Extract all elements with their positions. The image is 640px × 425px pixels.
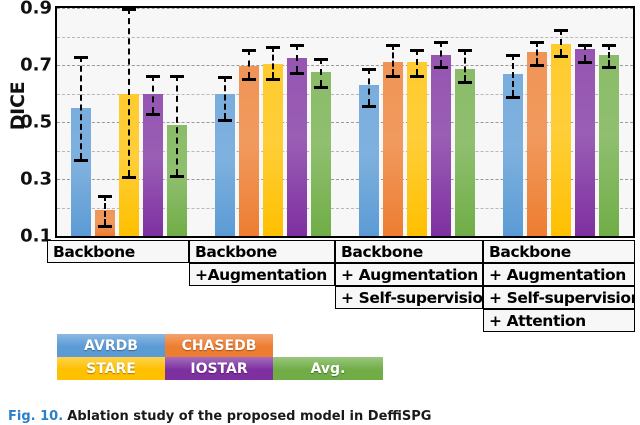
table-cell: + Self-supervision: [335, 286, 483, 309]
error-bar-line: [368, 68, 370, 105]
error-bar-line: [560, 29, 562, 55]
error-bar-cap-upper: [314, 58, 328, 61]
table-cell: Backbone: [189, 240, 335, 263]
bar-slot: [95, 8, 115, 236]
error-bar-cap-lower: [458, 81, 472, 84]
table-cell: Backbone: [47, 240, 189, 263]
error-bar-cap-upper: [98, 195, 112, 198]
table-cell: + Augmentation: [483, 263, 635, 286]
y-axis-tick-label: 0.5: [6, 112, 52, 133]
bar-slot: [119, 8, 139, 236]
error-bar-cap-upper: [122, 8, 136, 11]
table-cell: + Attention: [483, 309, 635, 332]
legend-row-1: AVRDBCHASEDB: [57, 334, 383, 357]
error-bar-line: [512, 54, 514, 97]
error-bar-line: [248, 49, 250, 78]
error-bar-line: [296, 44, 298, 73]
error-bar-line: [536, 41, 538, 64]
legend-item-chasedb: CHASEDB: [165, 334, 273, 357]
table-cell: Backbone: [335, 240, 483, 263]
error-bar-cap-lower: [122, 176, 136, 179]
error-bar-cap-upper: [218, 76, 232, 79]
error-bar-line: [176, 75, 178, 175]
bar-slot: [71, 8, 91, 236]
table-column: Backbone+ Augmentation+ Self-supervision…: [483, 240, 635, 332]
error-bar-cap-lower: [314, 86, 328, 89]
error-bar-cap-lower: [362, 105, 376, 108]
error-bar-line: [104, 195, 106, 225]
y-axis-tick-label: 0.7: [6, 55, 52, 76]
error-bar-cap-upper: [386, 44, 400, 47]
y-axis-tick-label: 0.9: [6, 0, 52, 19]
error-bar-cap-upper: [602, 44, 616, 47]
bar-avg-: [455, 69, 475, 236]
error-bar-cap-lower: [434, 66, 448, 69]
error-bar-line: [152, 75, 154, 113]
error-bar-line: [272, 46, 274, 77]
bar-slot: [551, 8, 571, 236]
bar-slot: [431, 8, 451, 236]
error-bar-cap-lower: [242, 78, 256, 81]
chart-legend: AVRDBCHASEDB STAREIOSTARAvg.: [57, 334, 383, 380]
bar-chasedb: [239, 66, 259, 236]
table-cell: + Self-supervision: [483, 286, 635, 309]
bar-slot: [527, 8, 547, 236]
legend-item-avg-: Avg.: [273, 357, 383, 380]
figure-root: DICE 0.90.70.50.30.1 BackboneBackbone+Au…: [0, 0, 640, 425]
table-cell: Backbone: [483, 240, 635, 263]
error-bar-cap-upper: [74, 56, 88, 59]
bar-slot: [407, 8, 427, 236]
error-bar-cap-upper: [362, 68, 376, 71]
error-bar-cap-upper: [434, 41, 448, 44]
error-bar-cap-upper: [146, 75, 160, 78]
bar-stare: [263, 64, 283, 236]
bar-slot: [215, 8, 235, 236]
error-bar-cap-upper: [170, 75, 184, 78]
bar-stare: [407, 62, 427, 236]
bar-iostar: [575, 49, 595, 236]
error-bar-cap-lower: [218, 119, 232, 122]
legend-item-stare: STARE: [57, 357, 165, 380]
bar-slot: [263, 8, 283, 236]
error-bar-cap-upper: [458, 49, 472, 52]
error-bar-cap-upper: [506, 54, 520, 57]
error-bar-line: [320, 58, 322, 87]
error-bar-cap-upper: [530, 41, 544, 44]
legend-item-iostar: IOSTAR: [165, 357, 273, 380]
bar-slot: [383, 8, 403, 236]
error-bar-line: [224, 76, 226, 119]
y-axis-tick-label: 0.1: [6, 226, 52, 247]
error-bar-line: [80, 56, 82, 159]
error-bar-cap-lower: [170, 175, 184, 178]
y-axis-ticks: 0.90.70.50.30.1: [0, 0, 52, 238]
bar-slot: [311, 8, 331, 236]
error-bar-line: [440, 41, 442, 67]
chart-plot-area: [55, 6, 635, 238]
legend-item-avrdb: AVRDB: [57, 334, 165, 357]
error-bar-cap-lower: [386, 75, 400, 78]
error-bar-cap-lower: [554, 55, 568, 58]
table-column: Backbone: [47, 240, 189, 263]
error-bar-cap-lower: [74, 159, 88, 162]
error-bar-cap-upper: [266, 46, 280, 49]
bar-slot: [167, 8, 187, 236]
figure-caption: Fig. 10. Ablation study of the proposed …: [8, 409, 640, 424]
error-bar-cap-lower: [98, 225, 112, 228]
caption-text: Ablation study of the proposed model in …: [67, 409, 431, 424]
error-bar-cap-lower: [530, 64, 544, 67]
error-bar-cap-upper: [242, 49, 256, 52]
error-bar-line: [608, 44, 610, 67]
bar-chasedb: [527, 52, 547, 236]
bar-slot: [455, 8, 475, 236]
bar-stare: [551, 44, 571, 236]
error-bar-line: [416, 49, 418, 75]
bar-slot: [503, 8, 523, 236]
bar-avg-: [311, 72, 331, 236]
error-bar-cap-lower: [410, 75, 424, 78]
error-bar-line: [464, 49, 466, 80]
error-bar-cap-lower: [578, 61, 592, 64]
condition-table: BackboneBackbone+AugmentationBackbone+ A…: [47, 240, 635, 332]
bar-slot: [287, 8, 307, 236]
error-bar-cap-lower: [602, 66, 616, 69]
bar-group: [489, 8, 633, 236]
bar-slot: [143, 8, 163, 236]
bar-chasedb: [383, 62, 403, 236]
error-bar-cap-upper: [578, 44, 592, 47]
table-column: Backbone+ Augmentation+ Self-supervision: [335, 240, 483, 309]
error-bar-line: [128, 8, 130, 176]
error-bar-cap-lower: [506, 96, 520, 99]
bar-slot: [239, 8, 259, 236]
caption-figure-number: Fig. 10.: [8, 409, 63, 424]
bar-slot: [599, 8, 619, 236]
y-axis-tick-label: 0.3: [6, 169, 52, 190]
error-bar-cap-upper: [554, 29, 568, 32]
gridline-major: [57, 236, 633, 237]
table-column: Backbone+Augmentation: [189, 240, 335, 286]
bar-group: [57, 8, 201, 236]
bar-group: [201, 8, 345, 236]
bar-group: [345, 8, 489, 236]
error-bar-cap-upper: [290, 44, 304, 47]
legend-row-2: STAREIOSTARAvg.: [57, 357, 383, 380]
error-bar-line: [392, 44, 394, 75]
error-bar-cap-lower: [266, 78, 280, 81]
error-bar-cap-lower: [290, 72, 304, 75]
bar-series-container: [57, 8, 633, 236]
table-cell: + Augmentation: [335, 263, 483, 286]
bar-avg-: [599, 55, 619, 236]
table-cell: +Augmentation: [189, 263, 335, 286]
error-bar-cap-upper: [410, 49, 424, 52]
bar-slot: [359, 8, 379, 236]
bar-slot: [575, 8, 595, 236]
bar-iostar: [431, 55, 451, 236]
bar-iostar: [287, 58, 307, 236]
error-bar-cap-lower: [146, 113, 160, 116]
